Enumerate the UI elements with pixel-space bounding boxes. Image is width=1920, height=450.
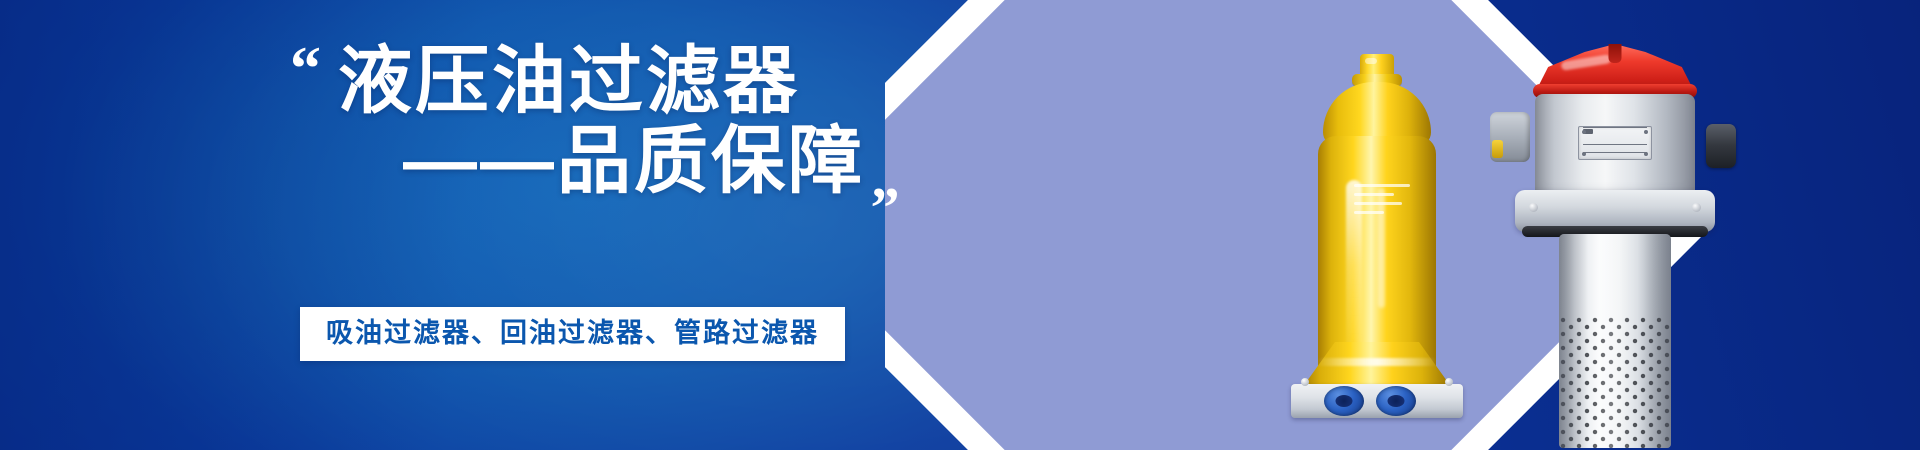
headline-line-2: ——品质保障 [403,122,865,200]
yellow-filter-port [1376,386,1416,416]
yellow-filter-port [1324,386,1364,416]
product-grey-return-filter [1506,38,1724,450]
grey-filter-side-port [1490,112,1530,162]
red-cap-notch [1609,44,1622,63]
subtitle-text: 吸油过滤器、回油过滤器、管路过滤器 [326,318,819,349]
grey-filter-nameplate [1578,126,1652,160]
headline-block: “ 液压油过滤器 ——品质保障 „ [290,42,910,201]
yellow-filter-flare-sheen [1317,358,1437,366]
hydraulic-filter-promo-banner: “ 液压油过滤器 ——品质保障 „ 吸油过滤器、回油过滤器、管路过滤器 [0,0,1920,450]
yellow-filter-label-marks [1354,184,1416,214]
product-photo-stage [1218,0,1920,450]
grey-filter-tube-shading [1559,234,1671,448]
closing-quote-mark: „ [871,149,898,207]
grey-filter-knob [1706,124,1736,168]
grey-filter-mesh-tube [1559,234,1671,448]
red-cap-gloss [1561,54,1612,71]
headline-line-2-row: ——品质保障 „ [290,122,910,200]
subtitle-box: 吸油过滤器、回油过滤器、管路过滤器 [300,307,845,361]
opening-quote-mark: “ [290,38,319,100]
yellow-filter-bolt [1301,378,1309,386]
yellow-filter-bolt [1445,378,1453,386]
product-yellow-suction-filter [1290,48,1464,440]
headline-line-1: 液压油过滤器 [290,42,910,120]
